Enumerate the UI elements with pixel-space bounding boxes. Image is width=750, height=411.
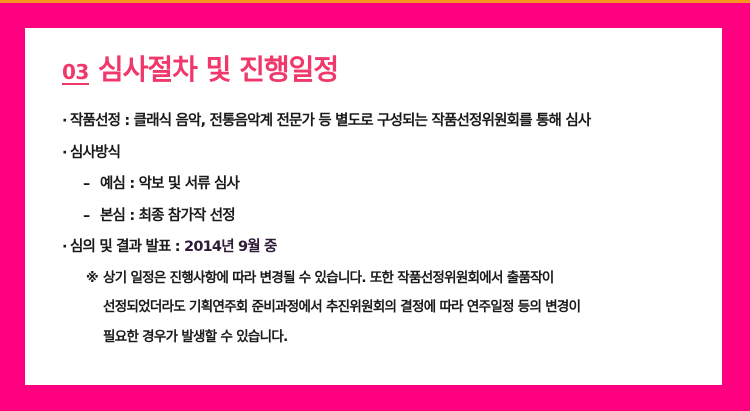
slide-frame: 03 심사절차 및 진행일정 · 작품선정 : 클래식 음악, 전통음악계 전문…: [0, 0, 750, 411]
asterisk-icon: ※: [86, 272, 103, 285]
list-item-label: 본심 : 최종 참가작 선정: [100, 209, 235, 224]
list-item-label: 작품선정 : 클래식 음악, 전통음악계 전문가 등 별도로 구성되는 작품선정…: [70, 114, 590, 129]
page-title: 03 심사절차 및 진행일정: [62, 56, 338, 85]
footnote-line-text: 필요한 경우가 발생할 수 있습니다.: [86, 331, 710, 345]
footnote-line-text: 선정되었더라도 기획연주회 준비과정에서 추진위원회의 결정에 따라 연주일정 …: [86, 301, 710, 315]
footnote-line-text: 상기 일정은 진행사항에 따라 변경될 수 있습니다. 또한 작품선정위원회에서…: [103, 272, 554, 286]
schedule-item-text: 심의 및 결과 발표 : 2014년 9월 중: [70, 240, 277, 255]
body-content: · 작품선정 : 클래식 음악, 전통음악계 전문가 등 별도로 구성되는 작품…: [62, 114, 710, 344]
footnote-first-line: ※ 상기 일정은 진행사항에 따라 변경될 수 있습니다. 또한 작품선정위원회…: [86, 272, 710, 286]
dash-icon: –: [83, 209, 100, 224]
top-accent-bar: [0, 0, 750, 3]
list-item: · 작품선정 : 클래식 음악, 전통음악계 전문가 등 별도로 구성되는 작품…: [62, 114, 710, 129]
list-item: – 예심 : 악보 및 서류 심사: [62, 177, 710, 192]
list-item-label: 예심 : 악보 및 서류 심사: [100, 177, 239, 192]
dash-icon: –: [83, 177, 100, 192]
list-item-label: 심사방식: [70, 146, 120, 161]
bullet-icon: ·: [62, 114, 70, 129]
list-item: · 심사방식: [62, 146, 710, 161]
bullet-icon: ·: [62, 240, 70, 255]
heading-number: 03: [62, 62, 89, 85]
list-item: – 본심 : 최종 참가작 선정: [62, 209, 710, 224]
schedule-item: · 심의 및 결과 발표 : 2014년 9월 중: [62, 240, 710, 255]
footnote: ※ 상기 일정은 진행사항에 따라 변경될 수 있습니다. 또한 작품선정위원회…: [62, 272, 710, 345]
schedule-item-value: 2014년 9월 중: [184, 239, 277, 255]
content-card: 03 심사절차 및 진행일정 · 작품선정 : 클래식 음악, 전통음악계 전문…: [25, 28, 722, 385]
heading-title: 심사절차 및 진행일정: [98, 56, 338, 84]
bullet-icon: ·: [62, 146, 70, 161]
schedule-item-label: 심의 및 결과 발표 :: [70, 239, 184, 255]
